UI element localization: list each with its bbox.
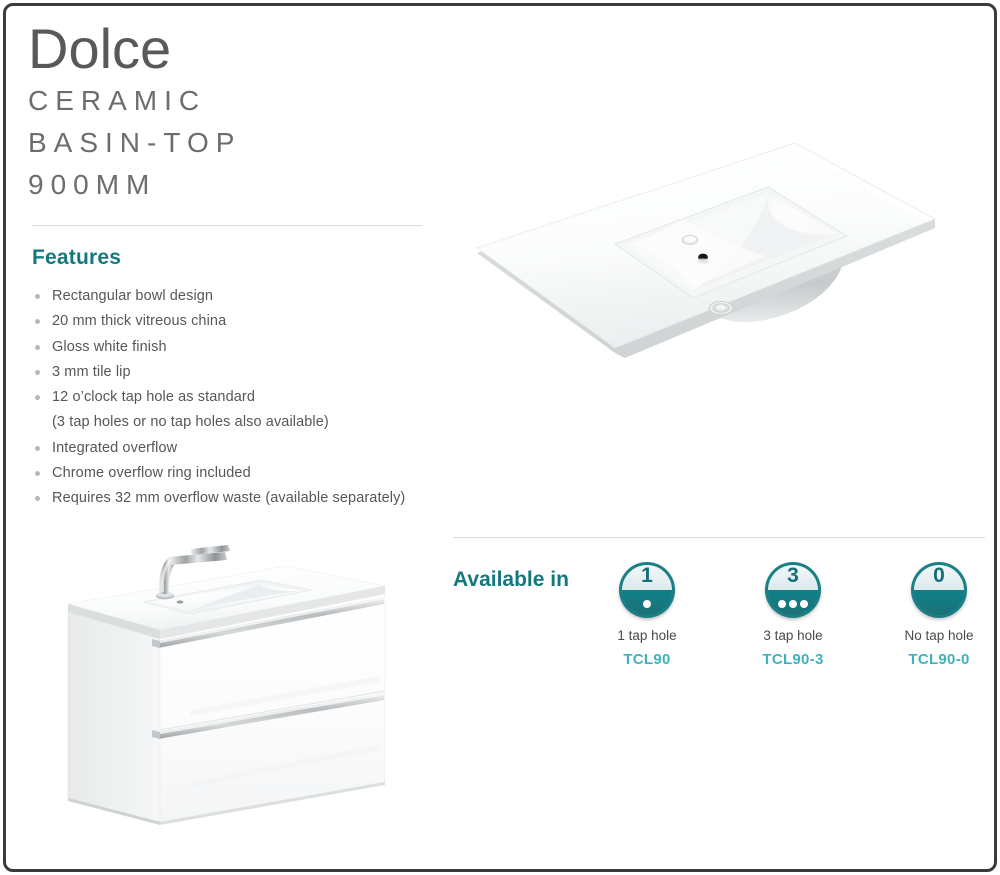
bullet-icon <box>35 395 40 400</box>
feature-text: Integrated overflow <box>52 440 177 456</box>
variant-code: TCL90-0 <box>897 650 981 669</box>
variant-label: 3 tap hole <box>751 627 835 645</box>
features-section: Features Rectangular bowl design 20 mm t… <box>32 246 442 512</box>
variant-label: 1 tap hole <box>605 627 689 645</box>
feature-text: 3 mm tile lip <box>52 364 131 380</box>
page-title: Dolce Ceramic Basin-Top 900mm <box>28 18 448 206</box>
list-item: Requires 32 mm overflow waste (available… <box>32 486 442 511</box>
badge-number: 1 <box>619 563 675 588</box>
variant-code: TCL90 <box>605 650 689 669</box>
list-item: Gloss white finish <box>32 335 442 360</box>
list-item: Chrome overflow ring included <box>32 461 442 486</box>
features-list: Rectangular bowl design 20 mm thick vitr… <box>32 284 442 512</box>
variant-label: No tap hole <box>897 627 981 645</box>
variant-option-1-tap-hole[interactable]: 1 1 tap hole TCL90 <box>605 562 689 669</box>
bullet-icon <box>35 446 40 451</box>
brand-name: Dolce <box>28 18 448 80</box>
badge-number: 3 <box>765 563 821 588</box>
feature-text: Chrome overflow ring included <box>52 465 251 481</box>
subtitle-line-2: Basin-Top <box>28 122 448 164</box>
subtitle-line-3: 900mm <box>28 164 448 206</box>
bullet-icon <box>35 319 40 324</box>
feature-text: Rectangular bowl design <box>52 288 213 304</box>
sheet-background: Dolce Ceramic Basin-Top 900mm Features R… <box>10 10 990 865</box>
badge-dots-icon <box>765 590 821 618</box>
title-divider <box>32 225 422 226</box>
list-item: 3 mm tile lip <box>32 360 442 385</box>
tap-hole-badge-icon: 3 <box>765 562 821 618</box>
bullet-icon <box>35 345 40 350</box>
variant-list: 1 1 tap hole TCL90 3 3 t <box>605 562 981 669</box>
feature-subtext: (3 tap holes or no tap holes also availa… <box>52 410 442 435</box>
variant-option-no-tap-hole[interactable]: 0 No tap hole TCL90-0 <box>897 562 981 669</box>
badge-number: 0 <box>911 563 967 588</box>
subtitle-line-1: Ceramic <box>28 80 448 122</box>
bullet-icon <box>35 471 40 476</box>
badge-dots-icon <box>619 590 675 618</box>
feature-text: 12 o’clock tap hole as standard <box>52 389 255 405</box>
tap-hole-badge-icon: 0 <box>911 562 967 618</box>
feature-text: Gloss white finish <box>52 339 167 355</box>
list-item: 12 o’clock tap hole as standard (3 tap h… <box>32 385 442 436</box>
list-item: Integrated overflow <box>32 436 442 461</box>
bullet-icon <box>35 370 40 375</box>
badge-dots-icon <box>911 590 967 618</box>
feature-text: Requires 32 mm overflow waste (available… <box>52 490 405 506</box>
basin-product-image <box>465 140 975 380</box>
list-item: Rectangular bowl design <box>32 284 442 309</box>
features-heading: Features <box>32 246 442 270</box>
vanity-unit-image <box>40 530 430 865</box>
tap-hole-badge-icon: 1 <box>619 562 675 618</box>
list-item: 20 mm thick vitreous china <box>32 309 442 334</box>
available-in-heading: Available in <box>453 568 569 592</box>
feature-text: 20 mm thick vitreous china <box>52 313 226 329</box>
bullet-icon <box>35 496 40 501</box>
variant-code: TCL90-3 <box>751 650 835 669</box>
available-divider <box>453 537 985 538</box>
bullet-icon <box>35 294 40 299</box>
product-spec-sheet: Dolce Ceramic Basin-Top 900mm Features R… <box>0 0 1000 875</box>
variant-option-3-tap-hole[interactable]: 3 3 tap hole TCL90-3 <box>751 562 835 669</box>
